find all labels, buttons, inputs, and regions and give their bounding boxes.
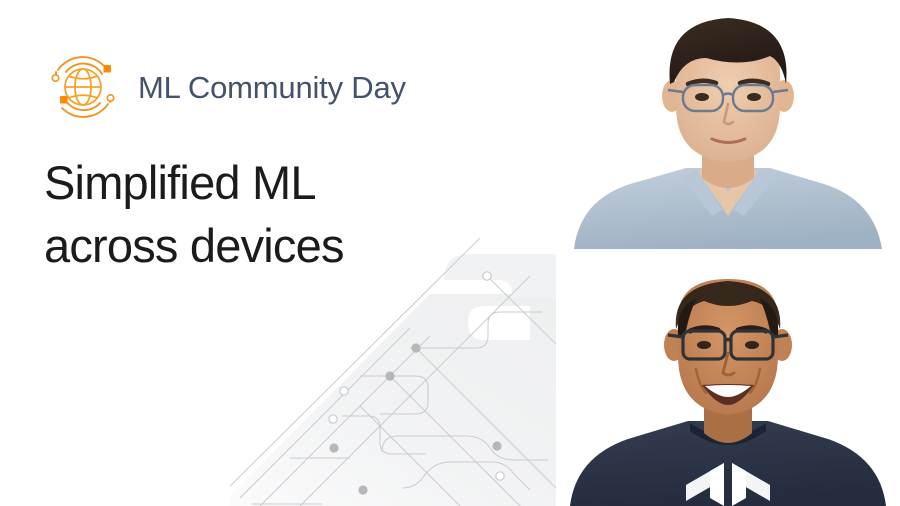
orbit-node-hollow: [107, 95, 113, 101]
orbit-node-hollow: [52, 75, 58, 81]
circuit-node-hollow: [340, 387, 348, 395]
orbit-node-square: [60, 96, 68, 104]
circuit-traces: [230, 238, 556, 506]
circuit-nodes: [329, 272, 504, 495]
speaker-portrait-bottom: [556, 249, 900, 506]
slide-left-column: ML Community Day Simplified ML across de…: [0, 0, 556, 506]
circuit-node-hollow: [329, 415, 337, 423]
circuit-node-filled: [385, 371, 394, 380]
ml-community-globe-orbit-icon: [42, 46, 124, 128]
slide-headline: Simplified ML across devices: [44, 152, 344, 277]
circuit-band-shapes: [230, 254, 556, 506]
circuit-node-filled: [411, 343, 420, 352]
orbit-node-group: [52, 65, 113, 104]
speaker-2-illustration: [556, 249, 900, 506]
circuit-node-hollow: [483, 272, 491, 280]
speaker-1-illustration: [556, 0, 900, 249]
circuit-node-filled: [358, 485, 367, 494]
circuit-node-filled: [329, 443, 338, 452]
circuit-node-filled: [492, 441, 501, 450]
speaker-portrait-top: [556, 0, 900, 249]
orbit-node-square: [104, 65, 112, 73]
circuit-node-hollow: [496, 472, 504, 480]
brand-lockup: ML Community Day: [42, 46, 406, 128]
speaker-photo-stack: [556, 0, 900, 506]
brand-title: ML Community Day: [138, 72, 406, 103]
presentation-slide: ML Community Day Simplified ML across de…: [0, 0, 900, 506]
